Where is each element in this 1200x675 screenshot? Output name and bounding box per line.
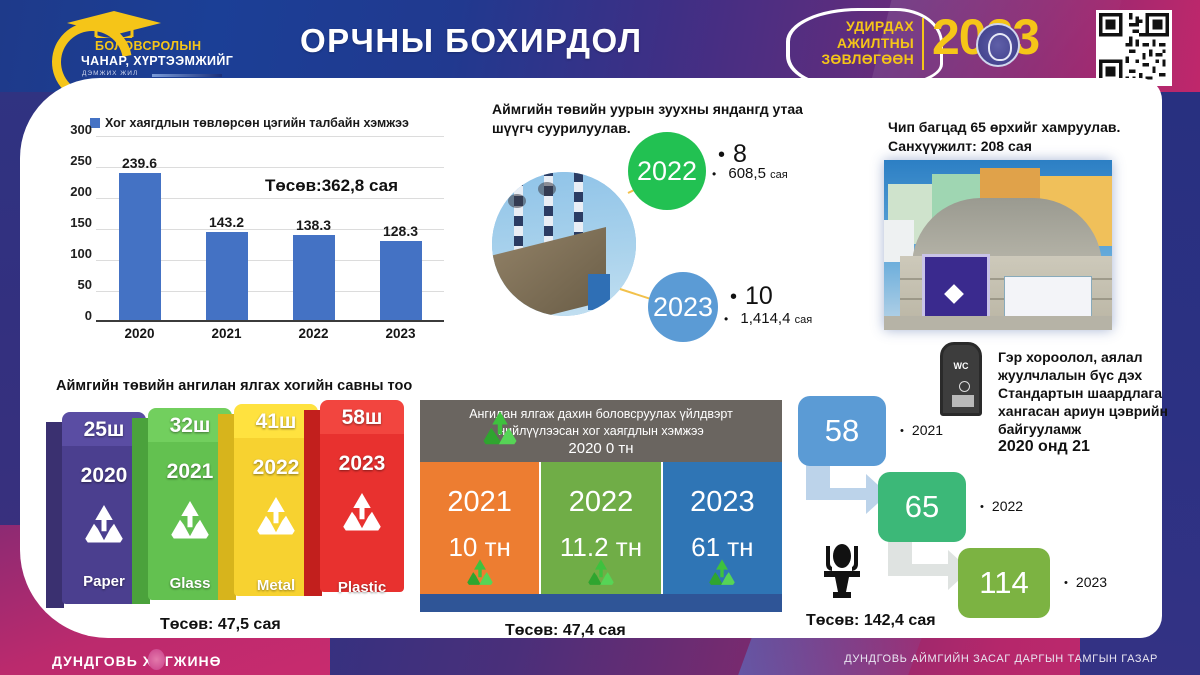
bin-material: Plastic bbox=[320, 579, 404, 596]
chart-bar-rect bbox=[380, 241, 422, 320]
stack-amount-2022-unit: сая bbox=[770, 169, 788, 181]
recycle-table-footer-bar bbox=[420, 594, 782, 612]
recycled-waste-table: Ангилан ялгаж дахин боловсруулах үйлдвэр… bbox=[420, 400, 782, 612]
recycling-bin-plastic: 58ш2023Plastic bbox=[320, 400, 404, 608]
recycle-icon bbox=[478, 408, 522, 452]
toilet-year-2022: 2022 bbox=[980, 498, 1023, 514]
page-title: ОРЧНЫ БОХИРДОЛ bbox=[300, 22, 642, 60]
badge-divider bbox=[922, 18, 924, 70]
recycle-table-row: 202110 тн202211.2 тн202361 тн bbox=[420, 462, 782, 594]
wc-label: WC bbox=[943, 361, 979, 371]
footer-left-logo: ДУНДГОВЬ ХӨГЖИНӨ bbox=[52, 653, 222, 669]
toilets-description: Гэр хороолол, аялал жуулчлалын бүс дэх С… bbox=[998, 348, 1173, 456]
chart-x-label: 2020 bbox=[96, 326, 183, 341]
chart-bar-value: 128.3 bbox=[383, 223, 418, 239]
state-seal-icon bbox=[976, 23, 1020, 67]
stack-amount-2023-unit: сая bbox=[795, 314, 813, 326]
recycle-cell-year: 2021 bbox=[420, 486, 539, 519]
chart-bars: 239.6143.2138.3128.3 bbox=[96, 136, 444, 320]
y-tick-2: 200 bbox=[52, 184, 92, 199]
stack-amount-2022: 608,5 сая bbox=[712, 165, 788, 182]
chart-bar-rect bbox=[119, 173, 161, 320]
recycle-head-line-1: Ангилан ялгаж дахин боловсруулах үйлдвэр… bbox=[420, 406, 782, 423]
smokestack-photo bbox=[492, 172, 636, 316]
recycle-cell-2021: 202110 тн bbox=[420, 462, 541, 594]
y-tick-6: 0 bbox=[52, 308, 92, 323]
qr-code-icon[interactable] bbox=[1096, 10, 1172, 86]
stack-count-2023: 10 bbox=[730, 282, 773, 311]
chart-bar-2022: 138.3 bbox=[270, 136, 357, 320]
chart-bar-2021: 143.2 bbox=[183, 136, 270, 320]
recycle-table-header: Ангилан ялгаж дахин боловсруулах үйлдвэр… bbox=[420, 400, 782, 462]
recycle-icon bbox=[702, 556, 742, 590]
recycle-icon bbox=[164, 496, 216, 546]
logo-line-3: ДЭМЖИХ ЖИЛ bbox=[82, 70, 138, 77]
stack-amount-2023-value: 1,414,4 bbox=[740, 310, 790, 327]
chip-line-2: Санхүүжилт: 208 сая bbox=[888, 137, 1158, 156]
chart-bar-value: 239.6 bbox=[122, 155, 157, 171]
toilet-count-2023: 114 bbox=[958, 548, 1050, 618]
chart-bar-value: 138.3 bbox=[296, 217, 331, 233]
recycle-baseline: 2020 0 тн bbox=[420, 440, 782, 457]
y-tick-3: 150 bbox=[52, 215, 92, 230]
stack-amount-2022-value: 608,5 bbox=[728, 165, 766, 182]
toilet-year-2023: 2023 bbox=[1064, 574, 1107, 590]
chip-line-1: Чип багцад 65 өрхийг хамруулав. bbox=[888, 118, 1158, 137]
chart-budget-annotation: Төсөв:362,8 сая bbox=[265, 176, 398, 196]
badge-line-2: АЖИЛТНЫ bbox=[814, 35, 914, 52]
recycle-cell-2022: 202211.2 тн bbox=[541, 462, 662, 594]
toilets-budget: Төсөв: 142,4 сая bbox=[806, 612, 936, 630]
graduation-cap-icon bbox=[66, 10, 162, 38]
chart-x-labels: 2020202120222023 bbox=[96, 326, 444, 341]
footer-seal-icon bbox=[148, 649, 165, 670]
chart-bar-value: 143.2 bbox=[209, 214, 244, 230]
stack-amount-2023: 1,414,4 сая bbox=[724, 310, 812, 327]
toilet-icon bbox=[820, 542, 864, 598]
wc-booth-icon: WC bbox=[940, 342, 982, 416]
toilet-count-2021: 58 bbox=[798, 396, 886, 466]
toilet-year-2021: 2021 bbox=[900, 422, 943, 438]
chart-legend: Хог хаягдлын төвлөрсөн цэгийн талбайн хэ… bbox=[90, 116, 409, 130]
stack-bubble-2023: 2023 bbox=[648, 272, 718, 342]
wc-knob-icon bbox=[959, 381, 970, 392]
recycling-bins-group: 25ш2020Paper32ш2021Glass41ш2022Metal58ш2… bbox=[62, 398, 412, 608]
chart-x-label: 2022 bbox=[270, 326, 357, 341]
bin-count: 58ш bbox=[320, 406, 404, 430]
stack-bubble-2022: 2022 bbox=[628, 132, 706, 210]
recycle-icon bbox=[581, 556, 621, 590]
recycle-icon bbox=[336, 488, 388, 538]
chart-bar-2023: 128.3 bbox=[357, 136, 444, 320]
legend-label: Хог хаягдлын төвлөрсөн цэгийн талбайн хэ… bbox=[105, 116, 409, 130]
recycle-cell-2023: 202361 тн bbox=[663, 462, 782, 594]
conference-badge: УДИРДАХ АЖИЛТНЫ ЗӨВЛӨГӨӨН 2023 bbox=[786, 4, 1076, 86]
arrow-2021-to-2022 bbox=[800, 462, 890, 524]
toilet-count-2022: 65 bbox=[878, 472, 966, 542]
recycle-cell-year: 2023 bbox=[663, 486, 782, 519]
recycle-cell-year: 2022 bbox=[541, 486, 660, 519]
footer-right-text: ДУНДГОВЬ АЙМГИЙН ЗАСАГ ДАРГЫН ТАМГЫН ГАЗ… bbox=[844, 653, 1158, 665]
bin-year: 2023 bbox=[320, 452, 404, 476]
badge-line-1: УДИРДАХ bbox=[814, 18, 914, 35]
logo-line-2: ЧАНАР, ХҮРТЭЭМЖИЙГ bbox=[76, 53, 238, 69]
recycle-head-line-2: нийлүүлээсан хог хаягдлын хэмжээ bbox=[420, 423, 782, 440]
toilets-baseline: 2020 онд 21 bbox=[998, 438, 1173, 456]
ger-yurt-photo bbox=[884, 160, 1112, 330]
chart-x-label: 2023 bbox=[357, 326, 444, 341]
y-tick-1: 250 bbox=[52, 153, 92, 168]
recycle-icon bbox=[78, 500, 130, 550]
y-tick-4: 100 bbox=[52, 246, 92, 261]
badge-text: УДИРДАХ АЖИЛТНЫ ЗӨВЛӨГӨӨН bbox=[814, 18, 914, 68]
footer-bar: ДУНДГОВЬ ХӨГЖИНӨ ДУНДГОВЬ АЙМГИЙН ЗАСАГ … bbox=[0, 637, 1200, 675]
education-year-logo: БОЛОВСРОЛЫН ЧАНАР, ХҮРТЭЭМЖИЙГ ДЭМЖИХ ЖИ… bbox=[34, 4, 224, 88]
slide-root: БОЛОВСРОЛЫН ЧАНАР, ХҮРТЭЭМЖИЙГ ДЭМЖИХ ЖИ… bbox=[0, 0, 1200, 675]
y-tick-5: 50 bbox=[52, 277, 92, 292]
logo-line-1: БОЛОВСРОЛЫН bbox=[90, 38, 207, 54]
chart-x-axis bbox=[96, 320, 444, 322]
chart-bar-rect bbox=[206, 232, 248, 320]
y-tick-0: 300 bbox=[52, 122, 92, 137]
chart-bar-2020: 239.6 bbox=[96, 136, 183, 320]
badge-line-3: ЗӨВЛӨГӨӨН bbox=[814, 51, 914, 68]
recycle-icon bbox=[250, 492, 302, 542]
waste-area-bar-chart: Хог хаягдлын төвлөрсөн цэгийн талбайн хэ… bbox=[50, 116, 450, 356]
chart-bar-rect bbox=[293, 235, 335, 320]
bins-budget: Төсөв: 47,5 сая bbox=[160, 616, 281, 634]
logo-rule bbox=[152, 74, 222, 77]
chart-plot-area: 300 250 200 150 100 50 0 239.6143.2138.3… bbox=[96, 136, 444, 322]
recycle-icon bbox=[460, 556, 500, 590]
toilets-description-text: Гэр хороолол, аялал жуулчлалын бүс дэх С… bbox=[998, 349, 1168, 437]
chart-x-label: 2021 bbox=[183, 326, 270, 341]
chip-heading: Чип багцад 65 өрхийг хамруулав. Санхүүжи… bbox=[888, 118, 1158, 156]
bins-heading: Аймгийн төвийн ангилан ялгах хогийн савн… bbox=[56, 378, 412, 394]
